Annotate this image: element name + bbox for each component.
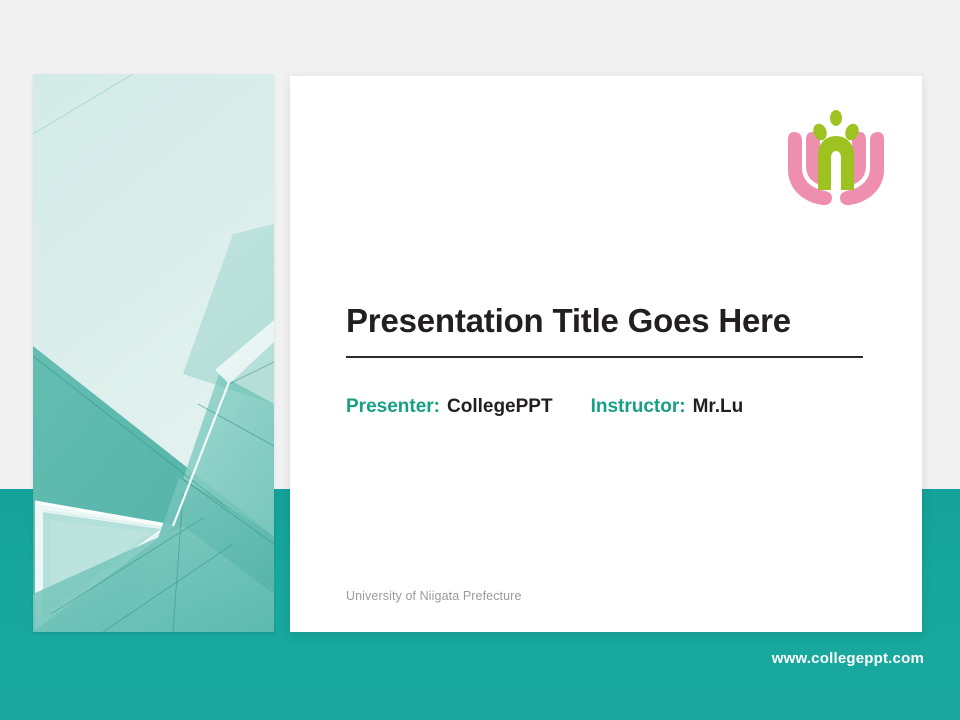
page-title: Presentation Title Goes Here xyxy=(346,303,864,340)
instructor-label: Instructor: xyxy=(591,396,686,418)
architectural-ceiling-photo xyxy=(33,74,274,632)
website-url: www.collegeppt.com xyxy=(772,650,924,667)
instructor-value: Mr.Lu xyxy=(693,396,744,418)
presenter-value: CollegePPT xyxy=(447,396,553,418)
photo-artwork xyxy=(33,74,274,632)
logo-green-arch xyxy=(818,136,854,190)
title-divider xyxy=(346,356,863,358)
university-logo xyxy=(788,108,884,206)
presenter-label: Presenter: xyxy=(346,396,440,418)
title-block: Presentation Title Goes Here xyxy=(346,303,864,358)
organization-name: University of Niigata Prefecture xyxy=(346,589,522,603)
instructor-field: Instructor: Mr.Lu xyxy=(591,396,744,418)
slide-content-card: Presentation Title Goes Here Presenter: … xyxy=(290,76,922,632)
presenter-field: Presenter: CollegePPT xyxy=(346,396,553,418)
university-crest-icon xyxy=(788,108,884,206)
presentation-meta: Presenter: CollegePPT Instructor: Mr.Lu xyxy=(346,396,743,418)
logo-seed-top xyxy=(830,110,842,126)
presentation-slide: Presentation Title Goes Here Presenter: … xyxy=(0,0,960,720)
